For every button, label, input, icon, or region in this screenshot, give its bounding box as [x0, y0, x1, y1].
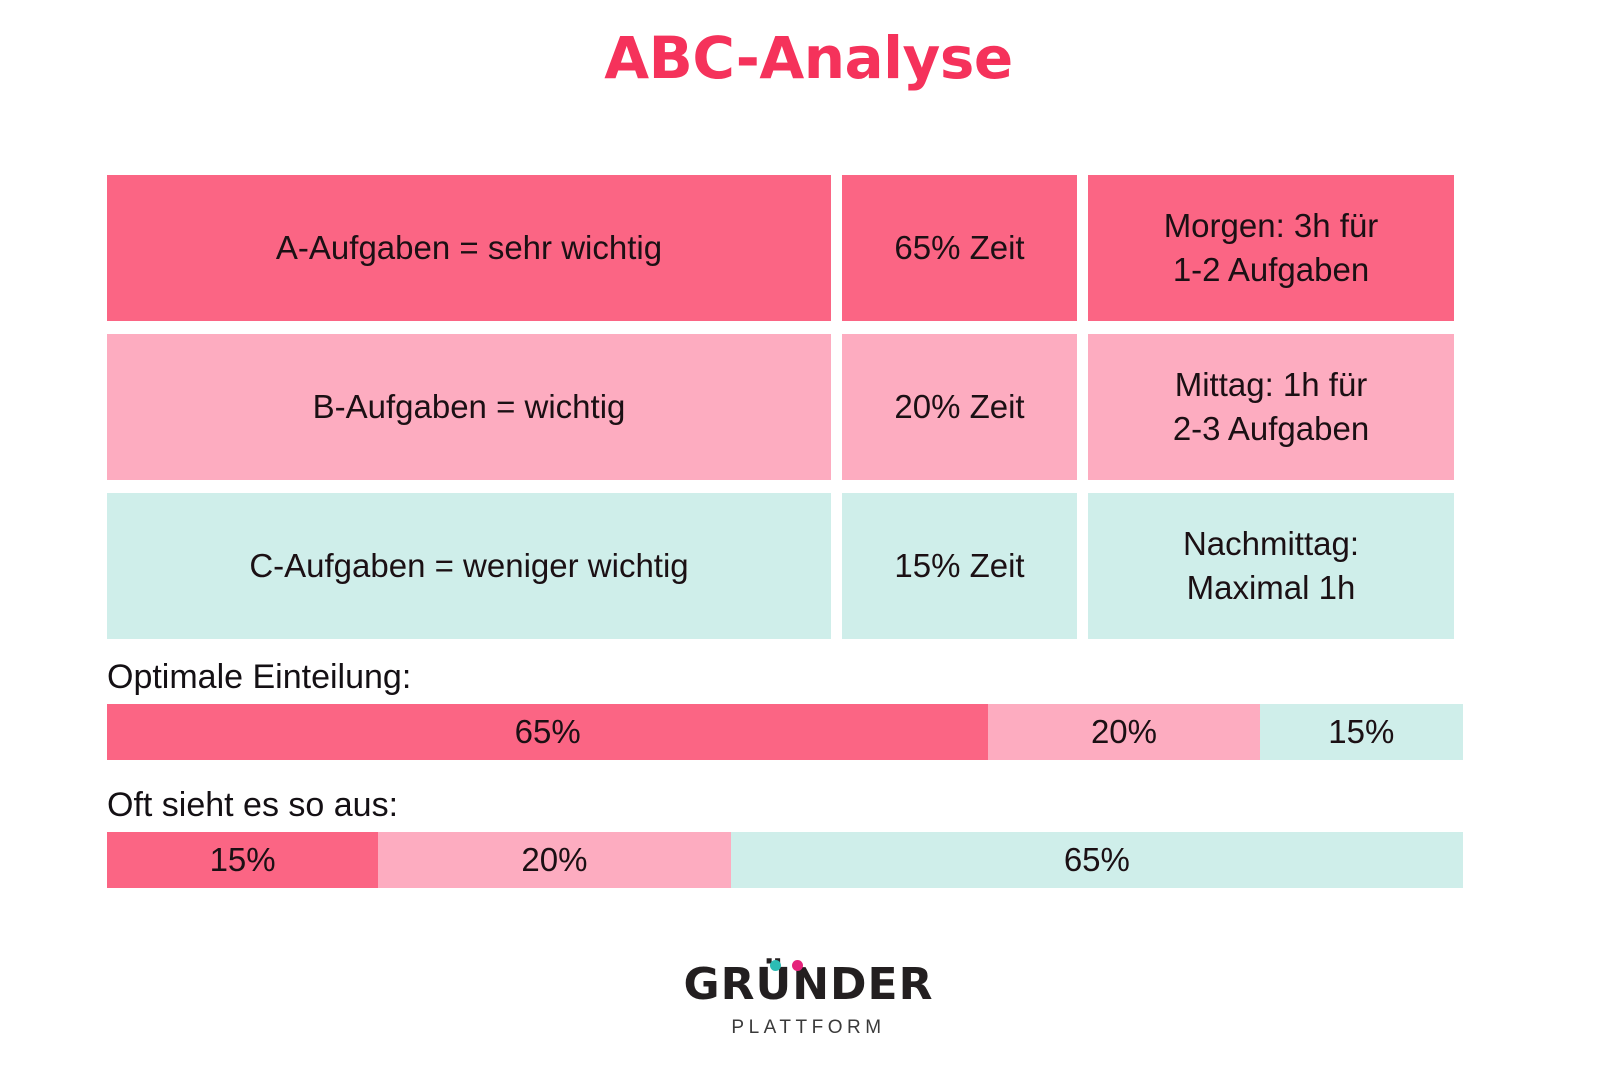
optimal-distribution-label: Optimale Einteilung: [107, 658, 1463, 697]
row-c-description: C-Aufgaben = weniger wichtig [107, 493, 831, 639]
table-row: A-Aufgaben = sehr wichtig 65% Zeit Morge… [107, 175, 1510, 321]
typical-distribution-bar: 15% 20% 65% [107, 832, 1463, 888]
table-row: C-Aufgaben = weniger wichtig 15% Zeit Na… [107, 493, 1510, 639]
table-row: B-Aufgaben = wichtig 20% Zeit Mittag: 1h… [107, 334, 1510, 480]
optimal-segment-b: 20% [988, 704, 1259, 760]
logo-wordmark: GRÜNDER [683, 963, 933, 1007]
typical-distribution-block: Oft sieht es so aus: 15% 20% 65% [107, 786, 1463, 888]
typical-segment-a: 15% [107, 832, 378, 888]
row-b-description: B-Aufgaben = wichtig [107, 334, 831, 480]
row-a-description: A-Aufgaben = sehr wichtig [107, 175, 831, 321]
row-b-detail: Mittag: 1h für 2-3 Aufgaben [1088, 334, 1454, 480]
optimal-distribution-bar: 65% 20% 15% [107, 704, 1463, 760]
typical-distribution-label: Oft sieht es so aus: [107, 786, 1463, 825]
brand-logo: GRÜNDER PLATTFORM [0, 963, 1617, 1039]
typical-segment-b: 20% [378, 832, 731, 888]
row-a-time: 65% Zeit [842, 175, 1077, 321]
page-title: ABC-Analyse [0, 24, 1617, 92]
row-b-time: 20% Zeit [842, 334, 1077, 480]
infographic-canvas: ABC-Analyse A-Aufgaben = sehr wichtig 65… [0, 0, 1617, 1088]
logo-wordmark-text: GRÜNDER [683, 959, 933, 1010]
row-c-time: 15% Zeit [842, 493, 1077, 639]
row-a-detail: Morgen: 3h für 1-2 Aufgaben [1088, 175, 1454, 321]
row-c-detail: Nachmittag: Maximal 1h [1088, 493, 1454, 639]
typical-segment-c: 65% [731, 832, 1463, 888]
abc-matrix: A-Aufgaben = sehr wichtig 65% Zeit Morge… [107, 175, 1510, 652]
optimal-segment-a: 65% [107, 704, 988, 760]
optimal-distribution-block: Optimale Einteilung: 65% 20% 15% [107, 658, 1463, 760]
logo-subtitle: PLATTFORM [0, 1017, 1617, 1039]
umlaut-dot-left-icon [770, 960, 781, 971]
optimal-segment-c: 15% [1260, 704, 1463, 760]
